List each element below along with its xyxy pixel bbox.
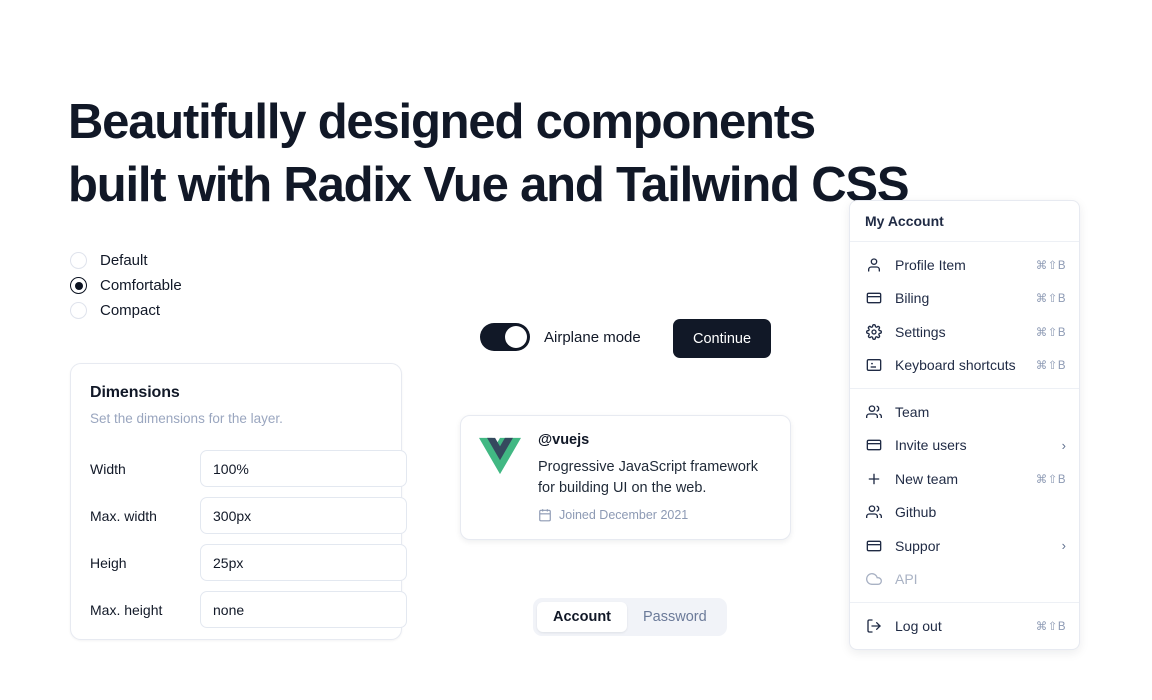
menu-item-billing[interactable]: Biling ⌘⇧B: [850, 282, 1079, 316]
radio-option-default[interactable]: Default: [70, 248, 182, 273]
menu-item-invite-users[interactable]: Invite users ›: [850, 429, 1079, 463]
menu-item-label: Suppor: [895, 538, 1062, 554]
airplane-mode-label: Airplane mode: [544, 329, 641, 346]
gear-icon: [865, 323, 883, 341]
user-icon: [865, 256, 883, 274]
menu-item-label: Log out: [895, 618, 1036, 634]
calendar-icon: [538, 508, 552, 522]
cloud-icon: [865, 570, 883, 588]
page-title: Beautifully designed components built wi…: [68, 91, 1028, 216]
dimensions-fields: Width Max. width Heigh Max. height: [90, 445, 382, 633]
airplane-mode-row: Airplane mode: [480, 323, 641, 351]
menu-item-label: Profile Item: [895, 257, 1036, 273]
hover-card-joined-text: Joined December 2021: [559, 508, 688, 522]
menu-item-shortcut: ⌘⇧B: [1036, 358, 1066, 372]
logout-icon: [865, 617, 883, 635]
vue-hover-card: @vuejs Progressive JavaScript framework …: [460, 415, 791, 540]
users-icon: [865, 403, 883, 421]
menu-item-github[interactable]: Github: [850, 496, 1079, 530]
radio-label-compact: Compact: [100, 302, 160, 319]
field-label-max-width: Max. width: [90, 508, 200, 524]
menu-item-label: Team: [895, 404, 1066, 420]
tab-account[interactable]: Account: [537, 602, 627, 632]
field-label-max-height: Max. height: [90, 602, 200, 618]
menu-item-shortcut: ⌘⇧B: [1036, 291, 1066, 305]
chevron-right-icon: ›: [1062, 438, 1066, 453]
menu-item-label: Keyboard shortcuts: [895, 357, 1036, 373]
page-title-line-1: Beautifully designed components: [68, 91, 1028, 154]
field-row-max-width: Max. width: [90, 492, 382, 539]
menu-item-log-out[interactable]: Log out ⌘⇧B: [850, 609, 1079, 643]
menu-item-shortcut: ⌘⇧B: [1036, 325, 1066, 339]
switch-knob: [505, 326, 527, 348]
radio-indicator-default[interactable]: [70, 252, 87, 269]
hover-card-description: Progressive JavaScript framework for bui…: [538, 457, 778, 498]
menu-header: My Account: [850, 201, 1079, 241]
airplane-mode-switch[interactable]: [480, 323, 530, 351]
dimensions-title: Dimensions: [90, 384, 382, 402]
max-height-input[interactable]: [200, 591, 407, 628]
continue-button[interactable]: Continue: [673, 319, 771, 358]
menu-group-account: Profile Item ⌘⇧B Biling ⌘⇧B Settings ⌘⇧B: [850, 242, 1079, 388]
menu-item-label: API: [895, 571, 1066, 587]
chevron-right-icon: ›: [1062, 538, 1066, 553]
radio-indicator-comfortable[interactable]: [70, 277, 87, 294]
height-input[interactable]: [200, 544, 407, 581]
menu-item-shortcut: ⌘⇧B: [1036, 619, 1066, 633]
account-dropdown-menu: My Account Profile Item ⌘⇧B Biling ⌘⇧B: [849, 200, 1080, 650]
credit-card-icon: [865, 289, 883, 307]
menu-item-shortcut: ⌘⇧B: [1036, 472, 1066, 486]
menu-item-label: New team: [895, 471, 1036, 487]
field-label-height: Heigh: [90, 555, 200, 571]
menu-item-profile[interactable]: Profile Item ⌘⇧B: [850, 248, 1079, 282]
radio-indicator-compact[interactable]: [70, 302, 87, 319]
keyboard-icon: [865, 356, 883, 374]
menu-group-session: Log out ⌘⇧B: [850, 603, 1079, 649]
menu-item-label: Biling: [895, 290, 1036, 306]
users-icon: [865, 503, 883, 521]
menu-item-shortcut: ⌘⇧B: [1036, 258, 1066, 272]
menu-item-label: Settings: [895, 324, 1036, 340]
menu-item-label: Invite users: [895, 437, 1062, 453]
credit-card-icon: [865, 537, 883, 555]
field-row-width: Width: [90, 445, 382, 492]
density-radio-group: Default Comfortable Compact: [70, 248, 182, 323]
settings-tabs: Account Password: [533, 598, 727, 636]
menu-group-team: Team Invite users › New team ⌘⇧B: [850, 389, 1079, 602]
menu-item-settings[interactable]: Settings ⌘⇧B: [850, 315, 1079, 349]
page-root: Beautifully designed components built wi…: [0, 0, 1152, 700]
radio-option-compact[interactable]: Compact: [70, 298, 182, 323]
menu-item-api: API: [850, 563, 1079, 597]
hover-card-handle: @vuejs: [538, 432, 778, 448]
hover-card-joined: Joined December 2021: [538, 508, 778, 522]
menu-item-team[interactable]: Team: [850, 395, 1079, 429]
field-row-height: Heigh: [90, 539, 382, 586]
field-label-width: Width: [90, 461, 200, 477]
vuejs-logo-icon: [479, 436, 521, 476]
width-input[interactable]: [200, 450, 407, 487]
radio-label-default: Default: [100, 252, 148, 269]
hover-card-body: @vuejs Progressive JavaScript framework …: [538, 432, 778, 523]
dimensions-card: Dimensions Set the dimensions for the la…: [70, 363, 402, 640]
menu-item-support[interactable]: Suppor ›: [850, 529, 1079, 563]
field-row-max-height: Max. height: [90, 586, 382, 633]
radio-label-comfortable: Comfortable: [100, 277, 182, 294]
tab-password[interactable]: Password: [627, 602, 723, 632]
plus-icon: [865, 470, 883, 488]
menu-item-keyboard-shortcuts[interactable]: Keyboard shortcuts ⌘⇧B: [850, 349, 1079, 383]
radio-option-comfortable[interactable]: Comfortable: [70, 273, 182, 298]
dimensions-subtitle: Set the dimensions for the layer.: [90, 411, 382, 426]
max-width-input[interactable]: [200, 497, 407, 534]
credit-card-icon: [865, 436, 883, 454]
menu-item-label: Github: [895, 504, 1066, 520]
menu-item-new-team[interactable]: New team ⌘⇧B: [850, 462, 1079, 496]
